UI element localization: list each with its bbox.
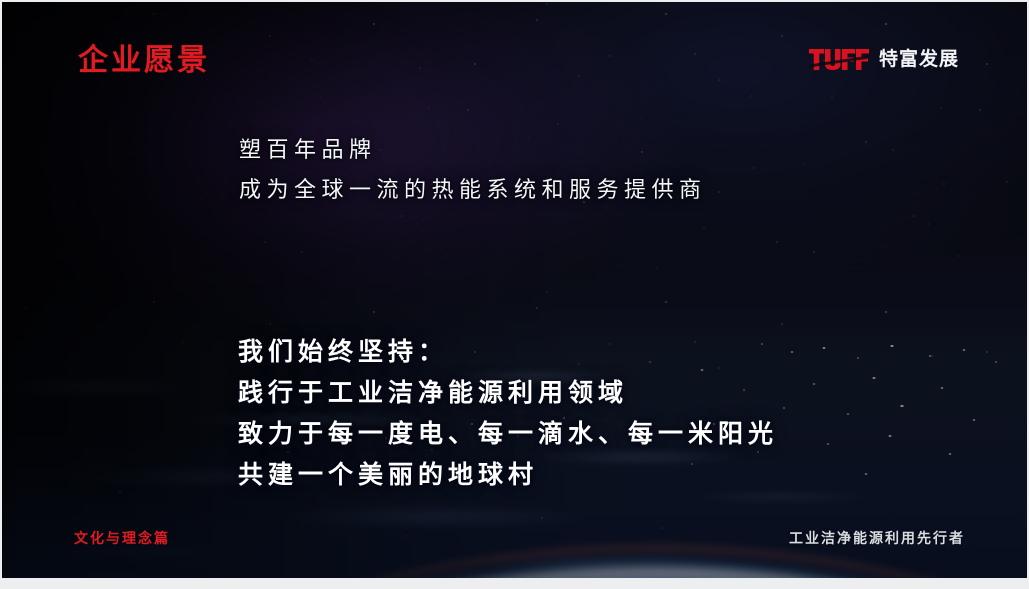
commitment-statement: 我们始终坚持： 践行于工业洁净能源利用领域 致力于每一度电、每一滴水、每一米阳光… (238, 332, 778, 496)
commitment-line: 我们始终坚持： (238, 332, 778, 373)
footer-section-label: 文化与理念篇 (74, 531, 170, 545)
page-title: 企业愿景 (78, 46, 210, 76)
commitment-line: 共建一个美丽的地球村 (238, 455, 778, 496)
brand-lockup: 特富发展 (809, 49, 959, 70)
brand-name-cn: 特富发展 (879, 50, 959, 69)
vision-slide: 企业愿景 特富发展 (0, 0, 1029, 589)
commitment-line: 致力于每一度电、每一滴水、每一米阳光 (238, 414, 778, 455)
footer-tagline: 工业洁净能源利用先行者 (789, 531, 965, 545)
tuff-wordmark-icon (809, 49, 869, 70)
vision-line: 塑百年品牌 (239, 130, 707, 170)
slide-content: 企业愿景 特富发展 (2, 2, 1027, 578)
commitment-line: 践行于工业洁净能源利用领域 (238, 373, 778, 414)
slide-background-photo: 企业愿景 特富发展 (2, 2, 1027, 578)
vision-statement: 塑百年品牌 成为全球一流的热能系统和服务提供商 (239, 130, 707, 210)
vision-line: 成为全球一流的热能系统和服务提供商 (239, 170, 707, 210)
